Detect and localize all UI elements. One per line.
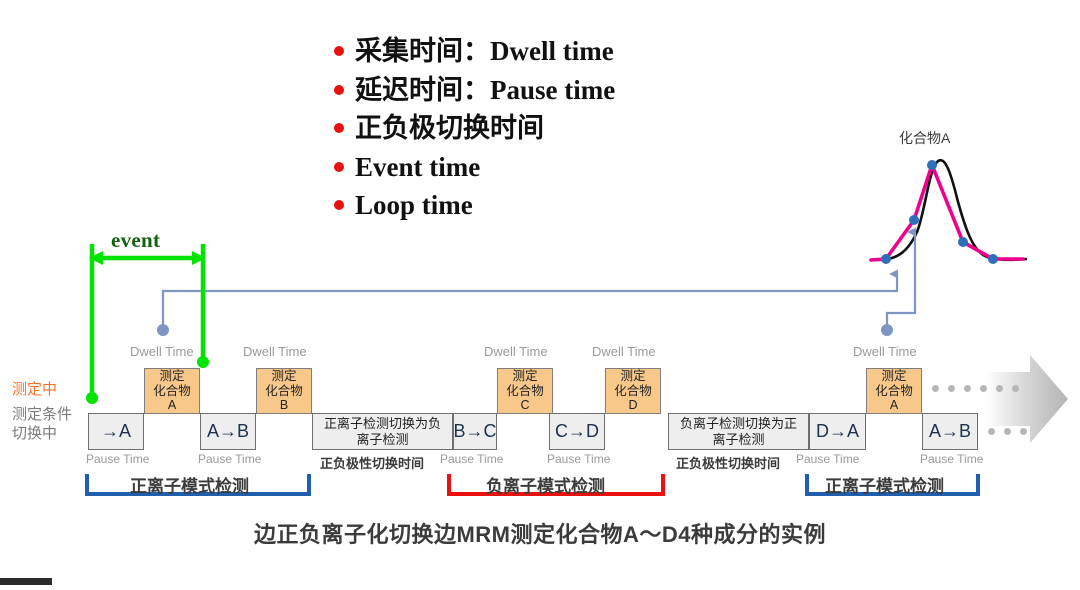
pause-block[interactable]: A→B [200, 413, 256, 450]
pause-caption: Pause Time [198, 452, 261, 466]
dwell-caption: Dwell Time [592, 344, 656, 359]
dwell-caption: Dwell Time [853, 344, 917, 359]
pause-caption: Pause Time [796, 452, 859, 466]
label-switching-line2: 切换中 [12, 425, 86, 444]
connector-lines [0, 0, 1080, 590]
dwell-block[interactable]: 测定化合物C [497, 368, 553, 414]
polarity-caption: 正负极性切换时间 [320, 453, 424, 472]
polarity-switch-block[interactable]: 负离子检测切换为正离子检测 [668, 413, 809, 450]
pause-caption: Pause Time [547, 452, 610, 466]
slide-canvas: 采集时间：Dwell time 延迟时间：Pause time 正负极切换时间 … [0, 0, 1080, 590]
bottom-accent-bar [0, 578, 52, 585]
pause-caption: Pause Time [440, 452, 503, 466]
mode-bracket-label: 负离子模式检测 [486, 472, 605, 497]
dwell-caption: Dwell Time [130, 344, 194, 359]
dwell-block[interactable]: 测定化合物B [256, 368, 312, 414]
mode-bracket-label: 正离子模式检测 [825, 472, 944, 497]
label-switching-line1: 测定条件 [12, 406, 86, 425]
event-end-dot [197, 356, 209, 368]
figure-caption: 边正负离子化切换边MRM测定化合物A～D4种成分的实例 [0, 517, 1080, 549]
pause-block[interactable]: A→B [922, 413, 978, 450]
label-measuring: 测定中 [12, 378, 57, 399]
dwell-caption: Dwell Time [484, 344, 548, 359]
dwell-caption: Dwell Time [243, 344, 307, 359]
continuation-dots-bottom [988, 428, 1027, 435]
pause-block[interactable]: D→A [809, 413, 866, 450]
dwell-block[interactable]: 测定化合物A [866, 368, 922, 414]
label-switching: 测定条件 切换中 [12, 406, 86, 444]
dwell-block[interactable]: 测定化合物D [605, 368, 661, 414]
polarity-switch-block[interactable]: 正离子检测切换为负离子检测 [312, 413, 453, 450]
pause-block[interactable]: C→D [549, 413, 605, 450]
pause-block[interactable]: B→C [453, 413, 497, 450]
connector-left [163, 274, 897, 330]
connector-right [887, 232, 915, 330]
pause-caption: Pause Time [920, 452, 983, 466]
polarity-caption: 正负极性切换时间 [676, 453, 780, 472]
mode-bracket-label: 正离子模式检测 [130, 472, 249, 497]
continuation-dots-top [932, 385, 1019, 392]
pause-caption: Pause Time [86, 452, 149, 466]
event-start-dot [86, 392, 98, 404]
pause-block[interactable]: →A [88, 413, 144, 450]
dwell-block[interactable]: 测定化合物A [144, 368, 200, 414]
event-label: event [111, 228, 160, 253]
